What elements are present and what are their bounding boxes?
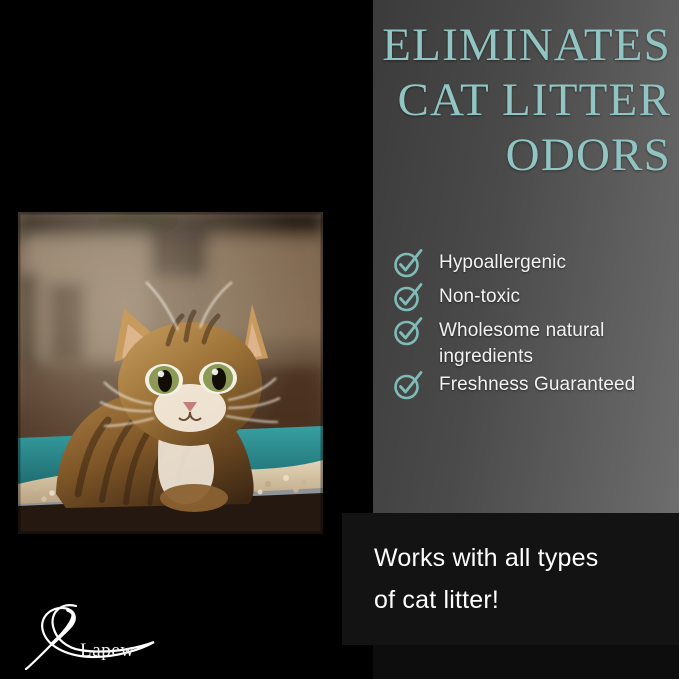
benefit-item: Hypoallergenic [392, 250, 677, 282]
advertisement-canvas: ELIMINATES CAT LITTER ODORS [0, 0, 679, 679]
check-circle-icon [392, 315, 424, 347]
benefit-label: Hypoallergenic [439, 250, 566, 276]
kitten-litterbox-photo [18, 212, 323, 534]
benefit-item: Wholesome natural ingredients [392, 318, 677, 370]
kitten-photo-illustration [18, 212, 323, 534]
benefit-item: Freshness Guaranteed [392, 372, 677, 404]
benefit-item: Non-toxic [392, 284, 677, 316]
headline-line-3: ODORS [251, 128, 671, 183]
callout-panel: Works with all types of cat litter! [342, 513, 679, 645]
callout-line-1: Works with all types [374, 537, 664, 579]
callout-text: Works with all types of cat litter! [374, 537, 664, 621]
headline: ELIMINATES CAT LITTER ODORS [251, 18, 671, 183]
brand-wordmark: Lapew [80, 640, 135, 662]
check-circle-icon [392, 247, 424, 279]
headline-line-2: CAT LITTER [251, 73, 671, 128]
check-circle-icon [392, 281, 424, 313]
benefit-label: Non-toxic [439, 284, 520, 310]
brand-logo: Lapew [22, 600, 202, 670]
callout-line-2: of cat litter! [374, 579, 664, 621]
check-circle-icon [392, 369, 424, 401]
benefit-label: Freshness Guaranteed [439, 372, 635, 398]
headline-line-1: ELIMINATES [251, 18, 671, 73]
benefits-list: Hypoallergenic Non-toxic Wholesome natur… [392, 250, 677, 406]
benefit-label: Wholesome natural ingredients [439, 318, 677, 370]
